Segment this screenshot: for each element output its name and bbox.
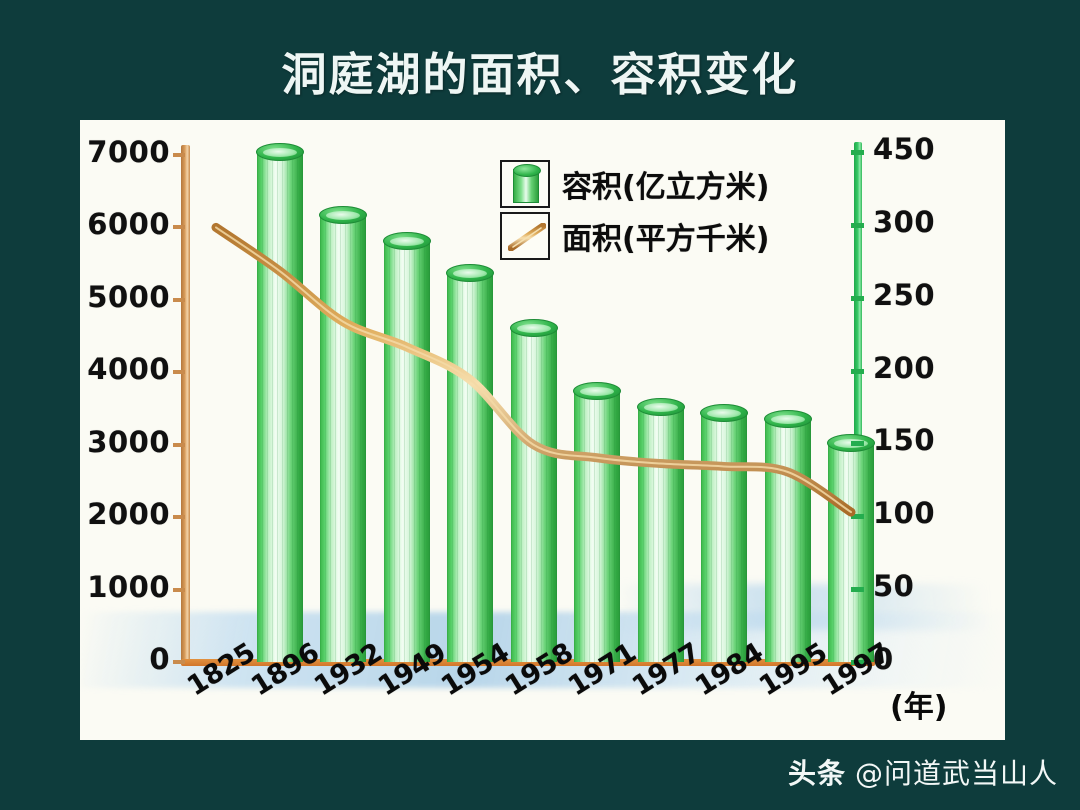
page-title: 洞庭湖的面积、容积变化	[0, 38, 1080, 103]
y-left-tick	[173, 515, 185, 519]
x-tick-label-1825: 1825	[182, 637, 260, 702]
y-axis-left-line	[181, 145, 190, 663]
legend: 容积(亿立方米) 面积(平方千米)	[500, 160, 769, 260]
y-right-tick	[851, 369, 864, 374]
bar-1997	[828, 443, 874, 662]
y-left-tick	[173, 660, 185, 664]
y-left-tick	[173, 370, 185, 374]
watermark-handle: @问道武当山人	[855, 752, 1058, 792]
watermark-brand: 头条	[788, 752, 846, 792]
bar-1984	[701, 413, 747, 662]
chart-panel: 70006000500040003000200010000 4503002502…	[80, 120, 1005, 740]
y-left-tick	[173, 588, 185, 592]
y-right-tick	[851, 441, 864, 446]
y-right-tick-label: 100	[873, 496, 935, 530]
bar-1995	[765, 419, 811, 662]
y-left-tick	[173, 443, 185, 447]
bar-1958	[511, 328, 557, 662]
y-left-tick-label: 5000	[87, 280, 170, 314]
legend-label-area: 面积(平方千米)	[562, 214, 769, 258]
y-left-tick-label: 3000	[87, 425, 170, 459]
bar-1977	[638, 407, 684, 662]
bar-1896	[257, 152, 303, 662]
y-left-tick-label: 2000	[87, 497, 170, 531]
y-right-tick	[851, 296, 864, 301]
y-right-tick-label: 150	[873, 423, 935, 457]
line-icon	[508, 223, 546, 251]
y-right-tick	[851, 514, 864, 519]
y-right-tick-label: 300	[873, 205, 935, 239]
bar-1949	[384, 241, 430, 662]
legend-key-line	[500, 212, 550, 260]
y-left-tick	[173, 153, 185, 157]
y-right-tick	[851, 150, 864, 155]
y-right-tick-label: 200	[873, 351, 935, 385]
y-left-tick-label: 4000	[87, 352, 170, 386]
y-right-tick	[851, 587, 864, 592]
y-right-tick	[851, 223, 864, 228]
plot-area: 70006000500040003000200010000 4503002502…	[80, 120, 1005, 740]
x-axis-unit-label: (年)	[890, 682, 947, 726]
legend-label-volume: 容积(亿立方米)	[562, 162, 769, 206]
y-left-tick-label: 7000	[87, 135, 170, 169]
cylinder-icon	[513, 169, 539, 203]
slide-root: 洞庭湖的面积、容积变化 7000600050004000300020001000…	[0, 0, 1080, 810]
y-right-tick-label: 50	[873, 569, 914, 603]
y-left-tick	[173, 298, 185, 302]
legend-item-area: 面积(平方千米)	[500, 212, 769, 260]
y-left-tick-label: 1000	[87, 570, 170, 604]
legend-key-cylinder	[500, 160, 550, 208]
bar-1932	[320, 215, 366, 662]
y-right-tick-label: 250	[873, 278, 935, 312]
y-right-tick-label: 450	[873, 132, 935, 166]
y-left-tick-label: 6000	[87, 207, 170, 241]
y-left-tick	[173, 225, 185, 229]
y-left-tick-label: 0	[149, 642, 170, 676]
bar-1971	[574, 391, 620, 662]
bar-1954	[447, 273, 493, 662]
legend-item-volume: 容积(亿立方米)	[500, 160, 769, 208]
watermark: 头条 @问道武当山人	[788, 752, 1058, 792]
